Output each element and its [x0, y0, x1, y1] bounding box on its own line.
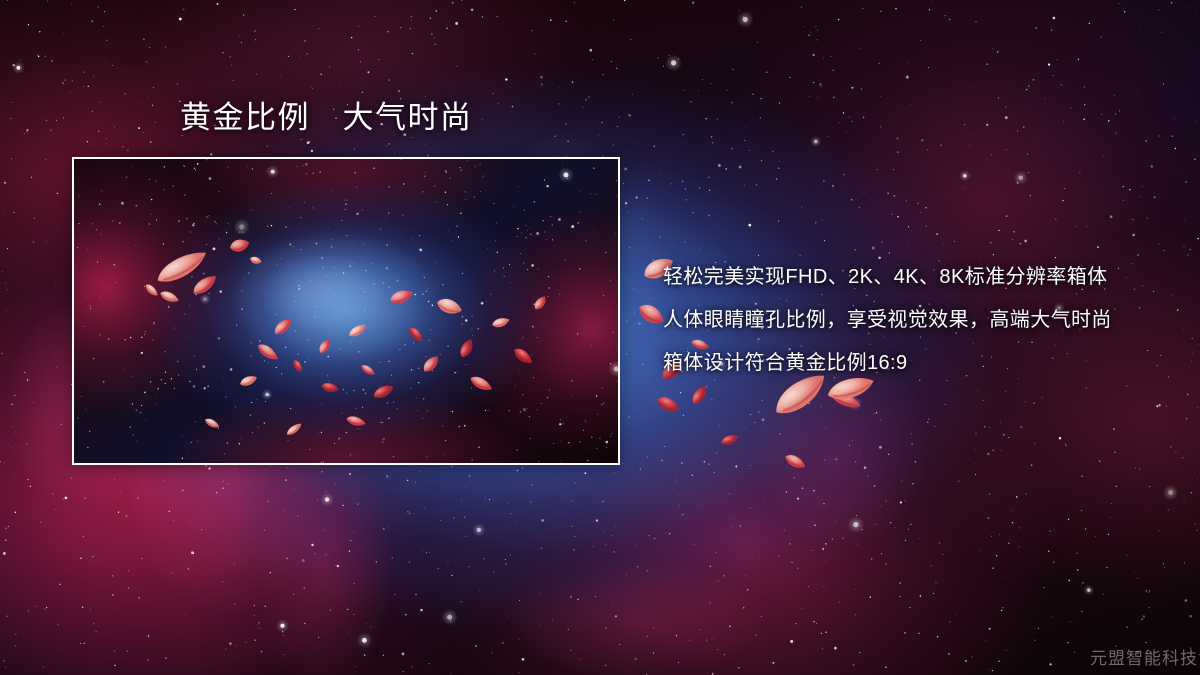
preview-image-frame[interactable]	[72, 157, 620, 465]
body-line-1: 轻松完美实现FHD、2K、4K、8K标准分辨率箱体	[663, 256, 1163, 299]
watermark-label: 元盟智能科技	[1090, 644, 1198, 669]
presentation-slide: 黄金比例 大气时尚 轻松完美实现FHD、2K、4K、8K标准分辨率箱体 人体眼睛…	[0, 0, 1200, 675]
body-copy-block: 轻松完美实现FHD、2K、4K、8K标准分辨率箱体 人体眼睛瞳孔比例，享受视觉效…	[663, 256, 1163, 385]
preview-nebula-image	[74, 159, 618, 463]
body-line-2: 人体眼睛瞳孔比例，享受视觉效果，高端大气时尚	[663, 299, 1163, 342]
page-title: 黄金比例 大气时尚	[180, 100, 473, 137]
body-line-3: 箱体设计符合黄金比例16:9	[663, 342, 1163, 385]
